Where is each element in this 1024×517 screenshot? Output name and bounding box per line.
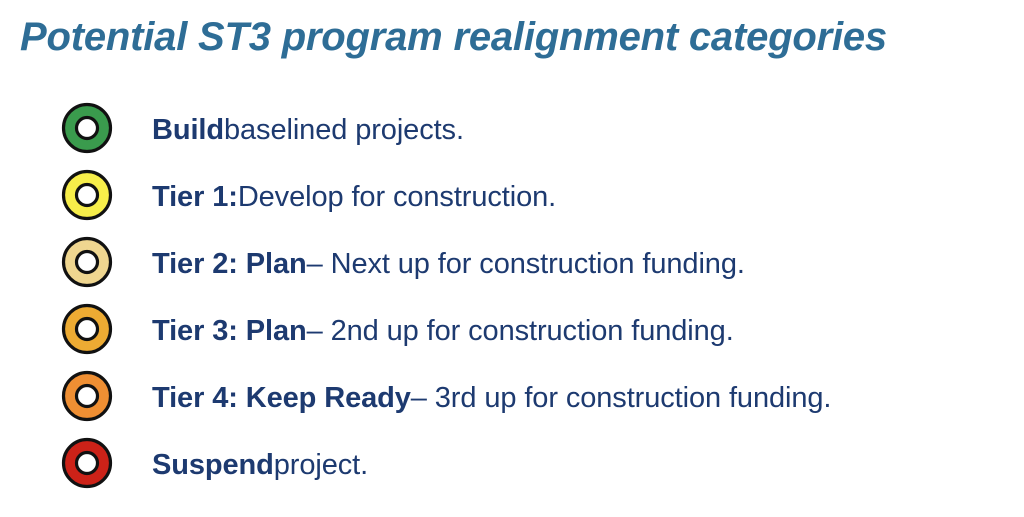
slide-canvas: Potential ST3 program realignment catego…: [0, 0, 1024, 517]
list-item-lead: Tier 2: Plan: [152, 247, 307, 281]
ring-icon-green: [61, 102, 113, 154]
ring-hole: [77, 453, 98, 474]
ring-icon-yellow: [61, 169, 113, 221]
category-list: Build baselined projects. Tier 1: Develo…: [0, 96, 1024, 498]
ring-hole: [77, 386, 98, 407]
list-item-text: Tier 3: Plan – 2nd up for construction f…: [152, 297, 734, 364]
list-item-text: Build baselined projects.: [152, 96, 464, 163]
list-item-lead: Tier 3: Plan: [152, 314, 307, 348]
list-item-lead: Tier 4: Keep Ready: [152, 381, 411, 415]
list-item-rest: – 2nd up for construction funding.: [307, 314, 734, 348]
ring-hole: [77, 319, 98, 340]
list-item-lead: Suspend: [152, 448, 274, 482]
list-item[interactable]: Suspend project.: [0, 431, 1024, 498]
list-item[interactable]: Tier 1: Develop for construction.: [0, 163, 1024, 230]
list-item-rest: – 3rd up for construction funding.: [411, 381, 832, 415]
list-item-text: Tier 1: Develop for construction.: [152, 163, 556, 230]
ring-hole: [77, 118, 98, 139]
list-item-rest: baselined projects.: [224, 113, 464, 147]
list-item[interactable]: Tier 2: Plan – Next up for construction …: [0, 230, 1024, 297]
page-title: Potential ST3 program realignment catego…: [20, 13, 1010, 61]
list-item-text: Suspend project.: [152, 431, 368, 498]
list-item-rest: Develop for construction.: [238, 180, 556, 214]
list-item[interactable]: Build baselined projects.: [0, 96, 1024, 163]
ring-hole: [77, 185, 98, 206]
list-item-lead: Build: [152, 113, 224, 147]
ring-icon-tan: [61, 236, 113, 288]
ring-icon-orange: [61, 370, 113, 422]
list-item-text: Tier 4: Keep Ready – 3rd up for construc…: [152, 364, 831, 431]
list-item[interactable]: Tier 4: Keep Ready – 3rd up for construc…: [0, 364, 1024, 431]
list-item-rest: – Next up for construction funding.: [307, 247, 745, 281]
list-item-lead: Tier 1:: [152, 180, 238, 214]
ring-hole: [77, 252, 98, 273]
list-item-rest: project.: [274, 448, 368, 482]
ring-icon-red: [61, 437, 113, 489]
ring-icon-amber: [61, 303, 113, 355]
list-item-text: Tier 2: Plan – Next up for construction …: [152, 230, 745, 297]
list-item[interactable]: Tier 3: Plan – 2nd up for construction f…: [0, 297, 1024, 364]
